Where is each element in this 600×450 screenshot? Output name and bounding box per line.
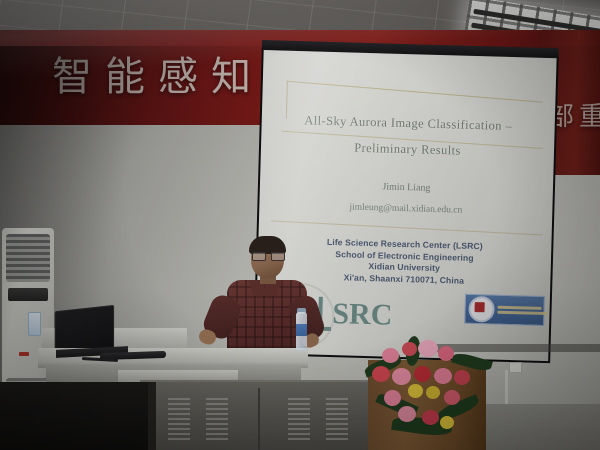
ac-grille: [6, 234, 50, 282]
flower: [422, 410, 439, 425]
presentation-room-photo: 智能感知 部重 All-Sky Aurora Image Classificat…: [0, 0, 600, 450]
slide-email: jimleung@mail.xidian.edu.cn: [259, 200, 552, 218]
flower: [382, 348, 399, 363]
wall-outlet: [509, 362, 522, 373]
logo-text-line: [498, 306, 542, 310]
xidian-university-logo-icon: [464, 294, 545, 326]
under-table-shadow: [0, 382, 150, 450]
flower: [392, 368, 411, 385]
glasses-lens-left: [252, 252, 266, 261]
logo-text-line: [497, 311, 547, 315]
flower: [402, 342, 417, 356]
banner-text: 智能感知: [52, 44, 264, 102]
flower: [438, 346, 454, 361]
cabinet-vent: [288, 398, 310, 440]
lsrc-logo-icon: SRC: [318, 297, 393, 333]
cabinet-vent: [326, 398, 348, 440]
flower: [418, 340, 438, 357]
cabinet-vent: [168, 398, 190, 440]
ac-display-panel: [8, 288, 48, 301]
slide-deco-line-low: [271, 220, 543, 235]
slide-title-line2: Preliminary Results: [261, 138, 554, 161]
flower: [408, 384, 423, 398]
glasses-icon: [252, 252, 283, 259]
flower: [414, 366, 431, 382]
glasses-lens-right: [271, 252, 285, 261]
xidian-logo-text: [497, 306, 547, 315]
flower: [398, 406, 416, 422]
flower: [440, 416, 454, 429]
flower: [434, 368, 452, 384]
cabinet-side-shadow: [148, 382, 156, 450]
ac-label-sticker: [28, 312, 41, 336]
bottle-label: [296, 324, 307, 336]
flower: [454, 370, 470, 385]
floral-arrangement: [362, 332, 494, 437]
slide-deco-line-top: [287, 81, 542, 103]
flower: [444, 390, 460, 405]
xidian-seal-icon: [468, 296, 495, 323]
cabinet-door-split: [258, 388, 260, 450]
metal-cabinet: [140, 380, 378, 450]
lsrc-logo-text: SRC: [332, 299, 393, 331]
slide-author: Jimin Liang: [260, 178, 553, 197]
ac-led-indicator: [19, 352, 29, 356]
flower: [372, 366, 390, 382]
flower: [384, 390, 401, 406]
cabinet-vent: [206, 398, 228, 440]
flower: [426, 386, 440, 399]
